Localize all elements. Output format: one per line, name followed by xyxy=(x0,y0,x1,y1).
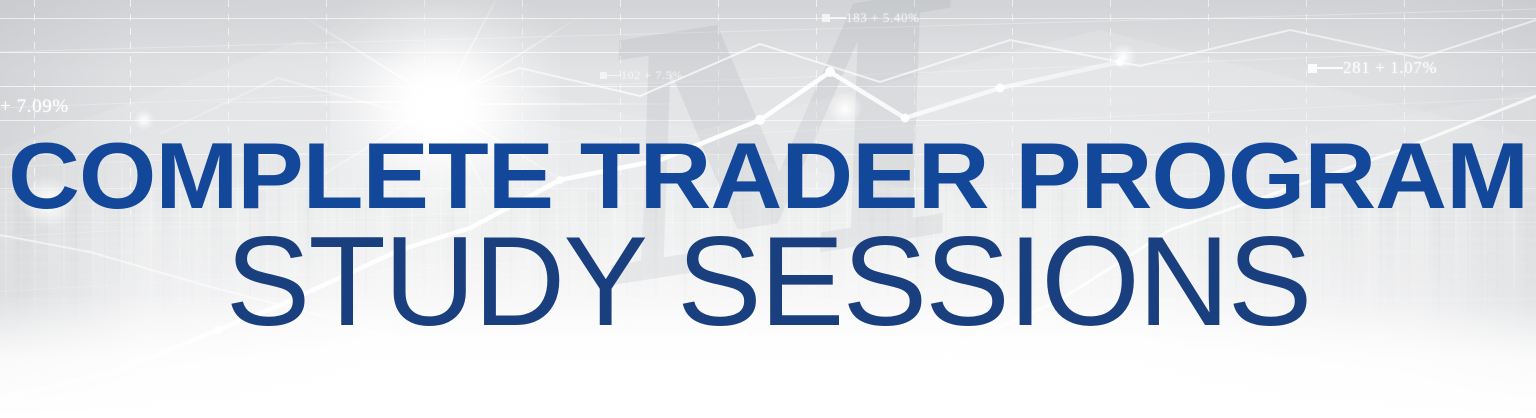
banner-root: M xyxy=(0,0,1536,418)
chart-lines xyxy=(0,0,1536,418)
